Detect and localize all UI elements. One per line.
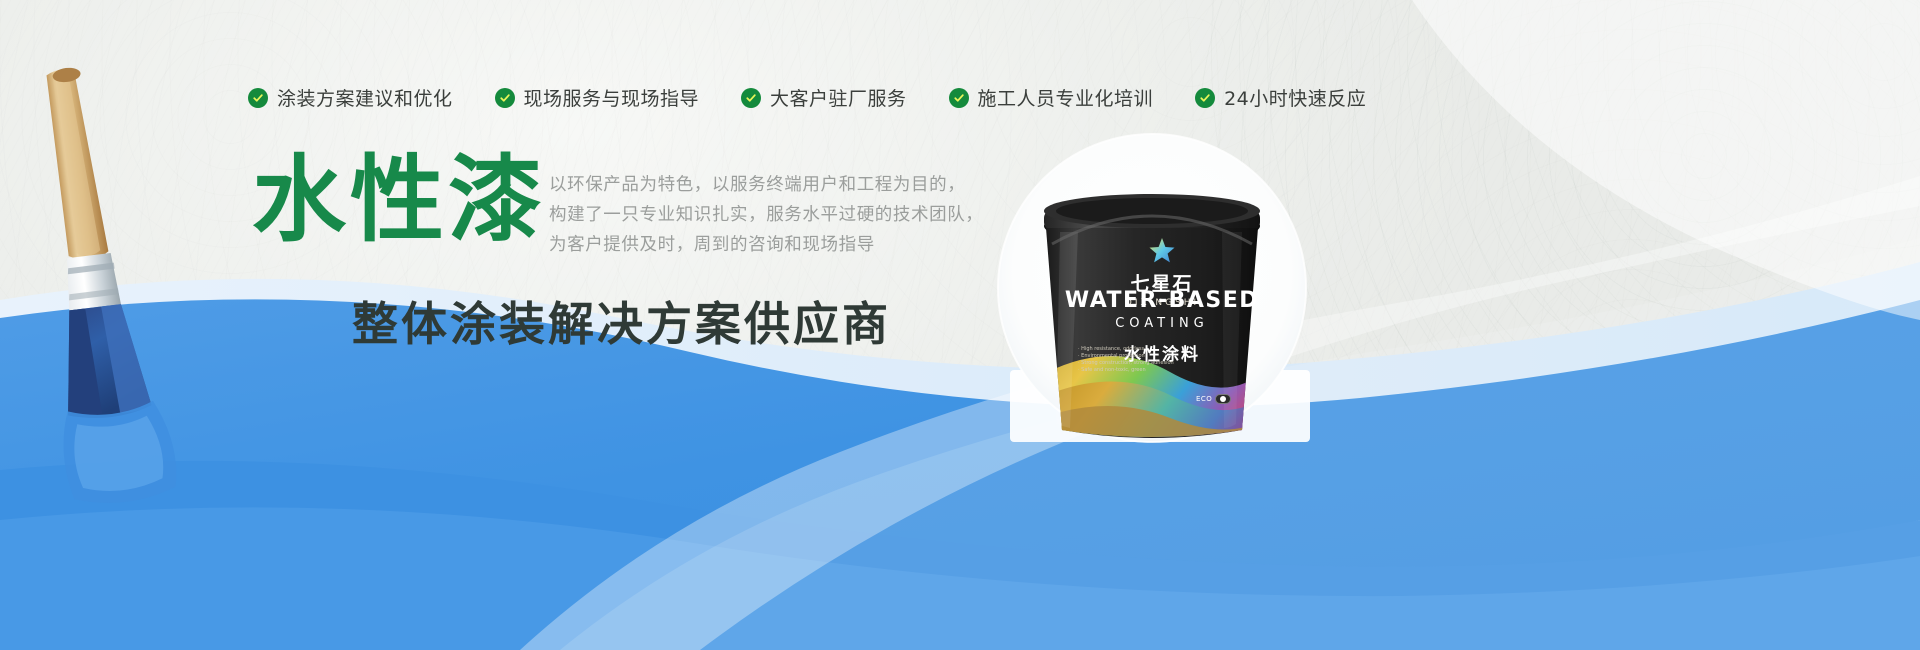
eco-label: ECO bbox=[1196, 395, 1212, 403]
feature-label: 24小时快速反应 bbox=[1224, 84, 1366, 111]
star-logo-icon bbox=[1147, 236, 1177, 266]
hero-banner: 涂装方案建议和优化 现场服务与现场指导 大客户驻厂服务 施工人员专业化培训 24… bbox=[0, 0, 1920, 650]
feature-item: 24小时快速反应 bbox=[1195, 84, 1366, 111]
feature-list: 涂装方案建议和优化 现场服务与现场指导 大客户驻厂服务 施工人员专业化培训 24… bbox=[248, 84, 1366, 111]
fine-print-line: · Safe and non-toxic, green bbox=[1078, 367, 1174, 374]
hero-description: 以环保产品为特色，以服务终端用户和工程为目的， 构建了一只专业知识扎实，服务水平… bbox=[549, 170, 983, 260]
description-line: 以环保产品为特色，以服务终端用户和工程为目的， bbox=[549, 170, 983, 200]
description-line: 构建了一只专业知识扎实，服务水平过硬的技术团队， bbox=[549, 200, 983, 230]
fine-print-line: · High resistance, odorless bbox=[1078, 346, 1174, 353]
check-circle-icon bbox=[949, 88, 969, 108]
feature-item: 大客户驻厂服务 bbox=[741, 84, 907, 111]
feature-label: 大客户驻厂服务 bbox=[770, 84, 907, 111]
feature-label: 现场服务与现场指导 bbox=[524, 84, 700, 111]
fine-print-line: · Strong construction, strong adhesion bbox=[1078, 360, 1174, 367]
product-name-en-sub: COATING bbox=[1062, 316, 1262, 331]
product-fine-print: · High resistance, odorless · Environmen… bbox=[1078, 346, 1174, 374]
product-name-en: WATER-BASED bbox=[1062, 288, 1262, 313]
feature-item: 施工人员专业化培训 bbox=[949, 84, 1154, 111]
fine-print-line: · Environmental protection bbox=[1078, 353, 1174, 360]
feature-item: 涂装方案建议和优化 bbox=[248, 84, 453, 111]
eco-badge: ECO bbox=[1196, 394, 1231, 404]
hero-subtitle: 整体涂装解决方案供应商 bbox=[352, 288, 891, 354]
hero-headline: 水性漆 bbox=[252, 152, 546, 251]
feature-label: 涂装方案建议和优化 bbox=[277, 84, 453, 111]
check-circle-icon bbox=[495, 88, 515, 108]
feature-label: 施工人员专业化培训 bbox=[978, 84, 1154, 111]
check-circle-icon bbox=[741, 88, 761, 108]
eco-dot-icon bbox=[1215, 394, 1231, 404]
check-circle-icon bbox=[1195, 88, 1215, 108]
check-circle-icon bbox=[248, 88, 268, 108]
description-line: 为客户提供及时，周到的咨询和现场指导 bbox=[549, 230, 983, 260]
feature-item: 现场服务与现场指导 bbox=[495, 84, 700, 111]
